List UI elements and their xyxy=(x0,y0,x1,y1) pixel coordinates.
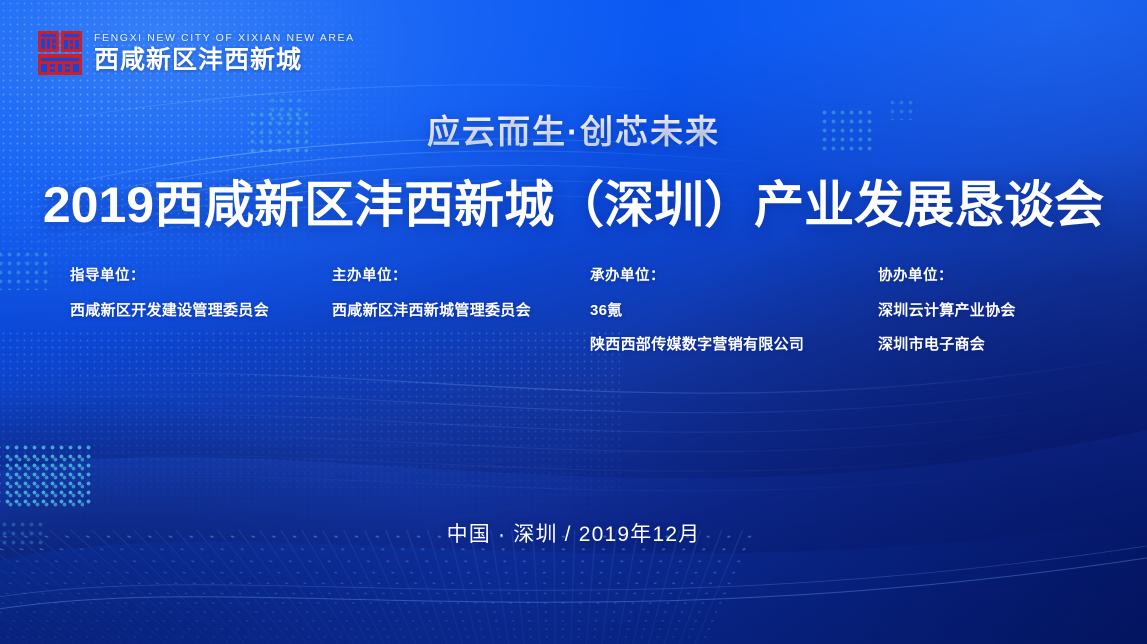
organizer-label: 主办单位： xyxy=(332,264,590,285)
organizer-item: 深圳市电子商会 xyxy=(878,337,1078,352)
hero-subtitle: 应云而生·创芯未来 xyxy=(0,105,1147,153)
brand-logo: FENGXI NEW CITY OF XIXIAN NEW AREA 西咸新区沣… xyxy=(36,29,355,77)
organizer-item: 陕西西部传媒数字营销有限公司 xyxy=(590,337,878,352)
brand-logo-text: FENGXI NEW CITY OF XIXIAN NEW AREA 西咸新区沣… xyxy=(94,33,355,73)
event-location-date: 中国 · 深圳 / 2019年12月 xyxy=(0,518,1147,548)
organizer-item: 36氪 xyxy=(590,303,878,318)
organizer-column-coorganizer: 协办单位： 深圳云计算产业协会 深圳市电子商会 xyxy=(878,264,1078,371)
organizer-column-guidance: 指导单位： 西咸新区开发建设管理委员会 xyxy=(70,264,332,371)
organizer-item: 西咸新区沣西新城管理委员会 xyxy=(332,303,590,318)
brand-english-name: FENGXI NEW CITY OF XIXIAN NEW AREA xyxy=(94,33,355,44)
organizer-item: 西咸新区开发建设管理委员会 xyxy=(70,303,332,318)
brand-chinese-name: 西咸新区沣西新城 xyxy=(94,47,355,73)
organizer-label: 承办单位： xyxy=(590,264,878,285)
organizer-label: 协办单位： xyxy=(878,264,1078,285)
organizer-column-undertaker: 承办单位： 36氪 陕西西部传媒数字营销有限公司 xyxy=(590,264,878,371)
organizer-label: 指导单位： xyxy=(70,264,332,285)
organizer-columns: 指导单位： 西咸新区开发建设管理委员会 主办单位： 西咸新区沣西新城管理委员会 … xyxy=(70,264,1080,371)
fengxi-seal-logo-icon xyxy=(36,29,84,77)
organizer-column-host: 主办单位： 西咸新区沣西新城管理委员会 xyxy=(332,264,590,371)
organizer-item: 深圳云计算产业协会 xyxy=(878,303,1078,318)
hero-title: 2019西咸新区沣西新城（深圳）产业发展恳谈会 xyxy=(0,165,1147,237)
map-dot-cluster-left-inner xyxy=(6,455,84,507)
poster-canvas: FENGXI NEW CITY OF XIXIAN NEW AREA 西咸新区沣… xyxy=(0,0,1147,644)
map-dot-cluster-left-upper xyxy=(0,250,50,290)
